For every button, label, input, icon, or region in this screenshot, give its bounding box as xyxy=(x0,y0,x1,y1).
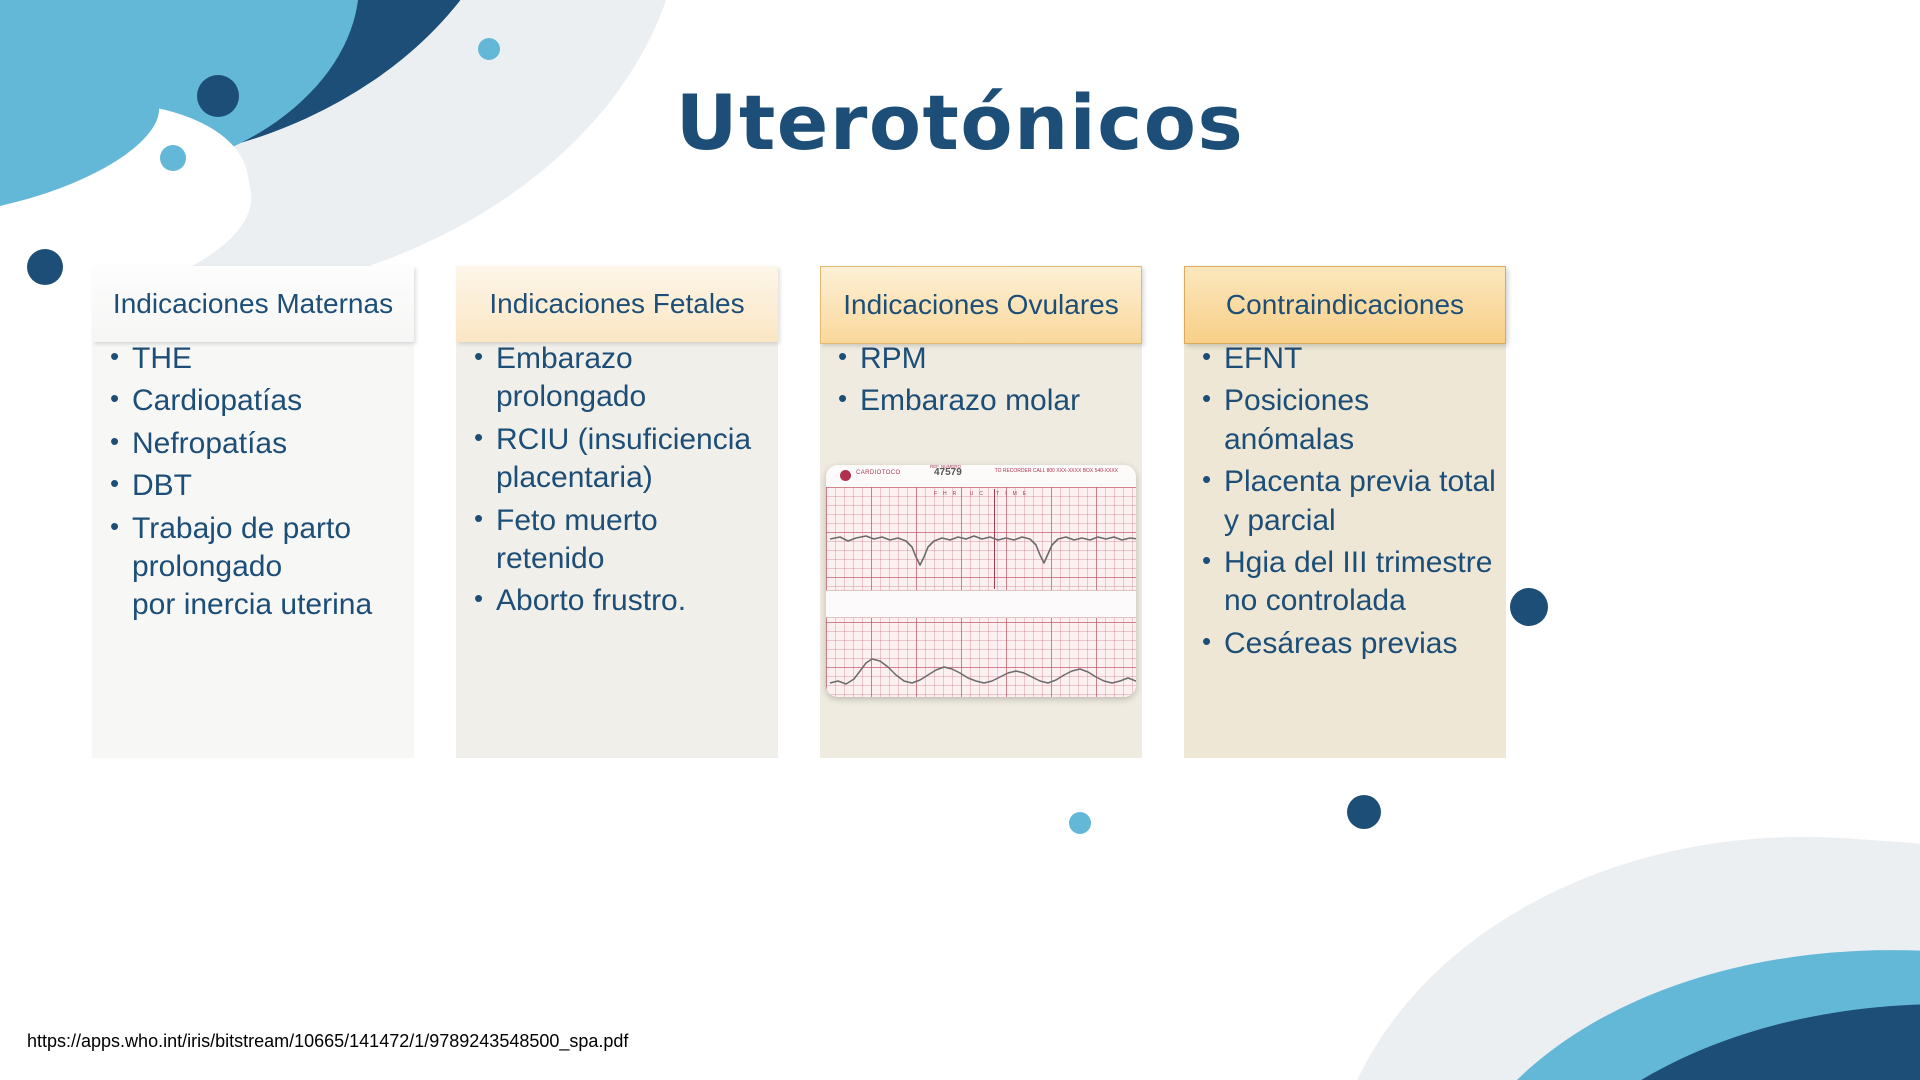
list-item: Placenta previa total y parcial xyxy=(1198,463,1496,540)
columns-container: THECardiopatíasNefropatíasDBTTrabajo de … xyxy=(92,266,1512,766)
ctg-brand-label: CARDIOTOCO xyxy=(856,470,901,476)
bullet-list: Embarazo prolongadoRCIU (insuficiencia p… xyxy=(456,318,778,651)
list-item: Trabajo de parto prolongado xyxy=(106,510,404,587)
column-body: THECardiopatíasNefropatíasDBTTrabajo de … xyxy=(92,318,414,758)
decorative-shape-bottom-right-navy xyxy=(1495,956,1920,1080)
ctg-header-bar: CARDIOTOCO REF. NÚMERO 47579 TO RECORDER… xyxy=(826,465,1136,488)
bullet-list: EFNTPosiciones anómalasPlacenta previa t… xyxy=(1184,318,1506,693)
column-header-indicaciones-ovulares: Indicaciones Ovulares xyxy=(820,266,1142,344)
decorative-dot-blue-bottom xyxy=(1069,812,1091,834)
decorative-dot-blue-tiny xyxy=(478,38,500,60)
ctg-uterine-contraction-trace xyxy=(826,615,1136,697)
list-item: EFNT xyxy=(1198,340,1496,378)
column-contraindicaciones: EFNTPosiciones anómalasPlacenta previa t… xyxy=(1184,266,1506,766)
slide-title: Uterotónicos xyxy=(0,78,1920,167)
source-url-footer: https://apps.who.int/iris/bitstream/1066… xyxy=(27,1031,628,1052)
decorative-dot-navy-right xyxy=(1510,588,1548,626)
decorative-dot-navy-left xyxy=(27,249,63,285)
column-indicaciones-fetales: Embarazo prolongadoRCIU (insuficiencia p… xyxy=(456,266,778,766)
ctg-record-id: 47579 xyxy=(934,467,962,478)
ctg-fetal-heart-rate-trace xyxy=(826,487,1136,591)
list-item: RPM xyxy=(834,340,1132,378)
list-item: Nefropatías xyxy=(106,425,404,463)
column-body: Embarazo prolongadoRCIU (insuficiencia p… xyxy=(456,318,778,758)
decorative-shape-bottom-right-blue xyxy=(1437,910,1920,1080)
list-item: Embarazo molar xyxy=(834,382,1132,420)
column-header-indicaciones-fetales: Indicaciones Fetales xyxy=(456,266,778,342)
decorative-dot-navy-bottom xyxy=(1347,795,1381,829)
list-item: Posiciones anómalas xyxy=(1198,382,1496,459)
list-item: por inercia uterina xyxy=(106,586,404,624)
list-item: Aborto frustro. xyxy=(470,582,768,620)
decorative-shape-bottom-right-grey xyxy=(1327,804,1920,1080)
ctg-separator-band xyxy=(826,590,1136,618)
column-indicaciones-ovulares: RPMEmbarazo molar CARDIOTOCO REF. NÚMERO… xyxy=(820,266,1142,766)
list-item: Hgia del III trimestre no controlada xyxy=(1198,544,1496,621)
column-header-indicaciones-maternas: Indicaciones Maternas xyxy=(92,266,414,342)
bullet-list: THECardiopatíasNefropatíasDBTTrabajo de … xyxy=(92,318,414,655)
list-item: RCIU (insuficiencia placentaria) xyxy=(470,421,768,498)
list-item: Cardiopatías xyxy=(106,382,404,420)
column-indicaciones-maternas: THECardiopatíasNefropatíasDBTTrabajo de … xyxy=(92,266,414,766)
list-item: DBT xyxy=(106,467,404,505)
list-item: Embarazo prolongado xyxy=(470,340,768,417)
column-body: EFNTPosiciones anómalasPlacenta previa t… xyxy=(1184,318,1506,758)
ctg-printed-note: TO RECORDER CALL 800 XXX-XXXX BOX 540-XX… xyxy=(995,468,1118,476)
column-header-contraindicaciones: Contraindicaciones xyxy=(1184,266,1506,344)
cardiotocography-strip-image: CARDIOTOCO REF. NÚMERO 47579 TO RECORDER… xyxy=(826,465,1136,697)
ctg-brand-logo-icon xyxy=(840,470,851,481)
list-item: THE xyxy=(106,340,404,378)
column-body: RPMEmbarazo molar CARDIOTOCO REF. NÚMERO… xyxy=(820,318,1142,758)
list-item: Feto muerto retenido xyxy=(470,502,768,579)
list-item: Cesáreas previas xyxy=(1198,625,1496,663)
